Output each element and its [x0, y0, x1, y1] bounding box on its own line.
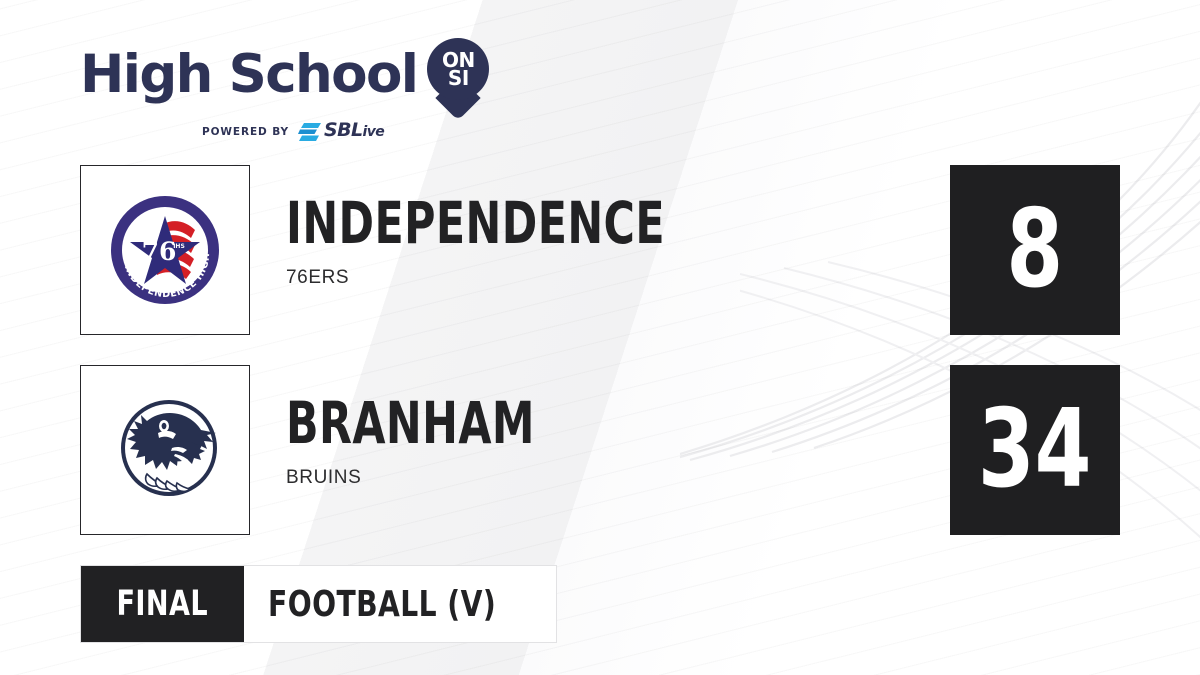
brand-title-row: High School ON SI	[80, 36, 510, 114]
sport-label: FOOTBALL (V)	[268, 586, 496, 623]
status-badge: FINAL	[81, 566, 244, 642]
game-status-bar: FINAL FOOTBALL (V)	[80, 565, 557, 643]
sblive-wordmark: SBLive	[324, 121, 384, 142]
svg-text:IHS: IHS	[173, 243, 185, 250]
team-mascot: BRUINS	[286, 467, 590, 489]
independence-high-school-seal-icon: 76 IHS INDEPENDENCE HIGH SCHOOL	[103, 188, 227, 312]
onsi-pin-logo: ON SI	[427, 38, 489, 114]
sblive-word-suffix: ive	[363, 124, 385, 140]
pin-label: ON SI	[427, 38, 489, 100]
status-badge-label: FINAL	[116, 586, 208, 622]
brand-header: High School ON SI POWERED BY SBLive	[80, 36, 510, 142]
sblive-chevron-icon	[298, 122, 322, 142]
pin-label-line2: SI	[448, 69, 469, 87]
svg-text:76: 76	[142, 237, 177, 266]
team-score-box: 34	[950, 365, 1120, 535]
team-name: INDEPENDENCE	[286, 193, 665, 253]
sblive-logo: SBLive	[298, 121, 384, 142]
team-row: 76 IHS INDEPENDENCE HIGH SCHOOL INDEPEND…	[80, 165, 1120, 335]
sport-label-container: FOOTBALL (V)	[244, 566, 556, 642]
branham-bruins-bear-logo-icon	[103, 388, 227, 512]
sblive-word-main: SBL	[324, 119, 362, 141]
page-title: High School	[80, 48, 417, 102]
team-score: 34	[978, 395, 1092, 505]
powered-by-row: POWERED BY SBLive	[202, 121, 510, 142]
team-name: BRANHAM	[286, 393, 535, 453]
team-logo-card-branham	[80, 365, 250, 535]
team-row: BRANHAM BRUINS 34	[80, 365, 1120, 535]
team-info: BRANHAM BRUINS	[286, 393, 590, 489]
team-score: 8	[1007, 195, 1064, 305]
team-info: INDEPENDENCE 76ERS	[286, 193, 748, 289]
team-logo-card-independence: 76 IHS INDEPENDENCE HIGH SCHOOL	[80, 165, 250, 335]
team-mascot: 76ERS	[286, 267, 748, 289]
powered-by-label: POWERED BY	[202, 126, 289, 138]
team-score-box: 8	[950, 165, 1120, 335]
